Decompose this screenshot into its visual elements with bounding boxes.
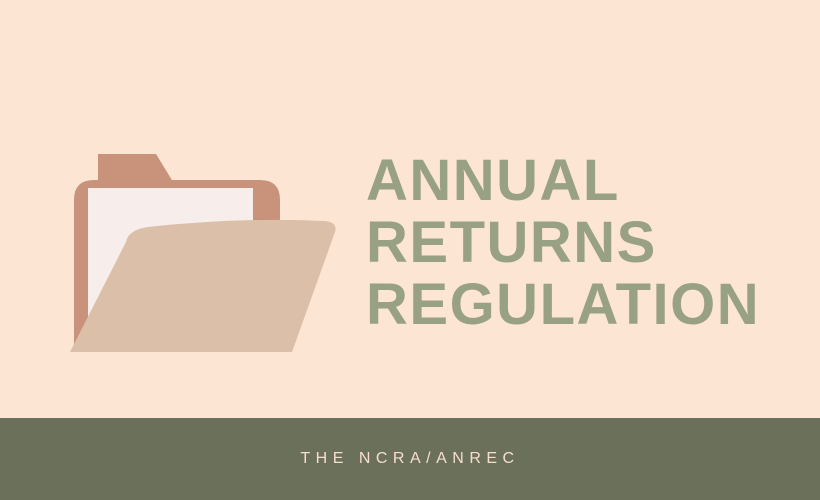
- page-title: ANNUAL RETURNS REGULATION: [366, 150, 786, 336]
- folder-illustration: [60, 130, 360, 370]
- bottom-banner: THE NCRA/ANREC: [0, 418, 820, 500]
- title-line-1: ANNUAL: [366, 150, 786, 212]
- banner-organization-label: THE NCRA/ANREC: [300, 450, 519, 468]
- title-line-3: REGULATION: [366, 274, 786, 336]
- poster-canvas: ANNUAL RETURNS REGULATION THE NCRA/ANREC: [0, 0, 820, 500]
- title-line-2: RETURNS: [366, 212, 786, 274]
